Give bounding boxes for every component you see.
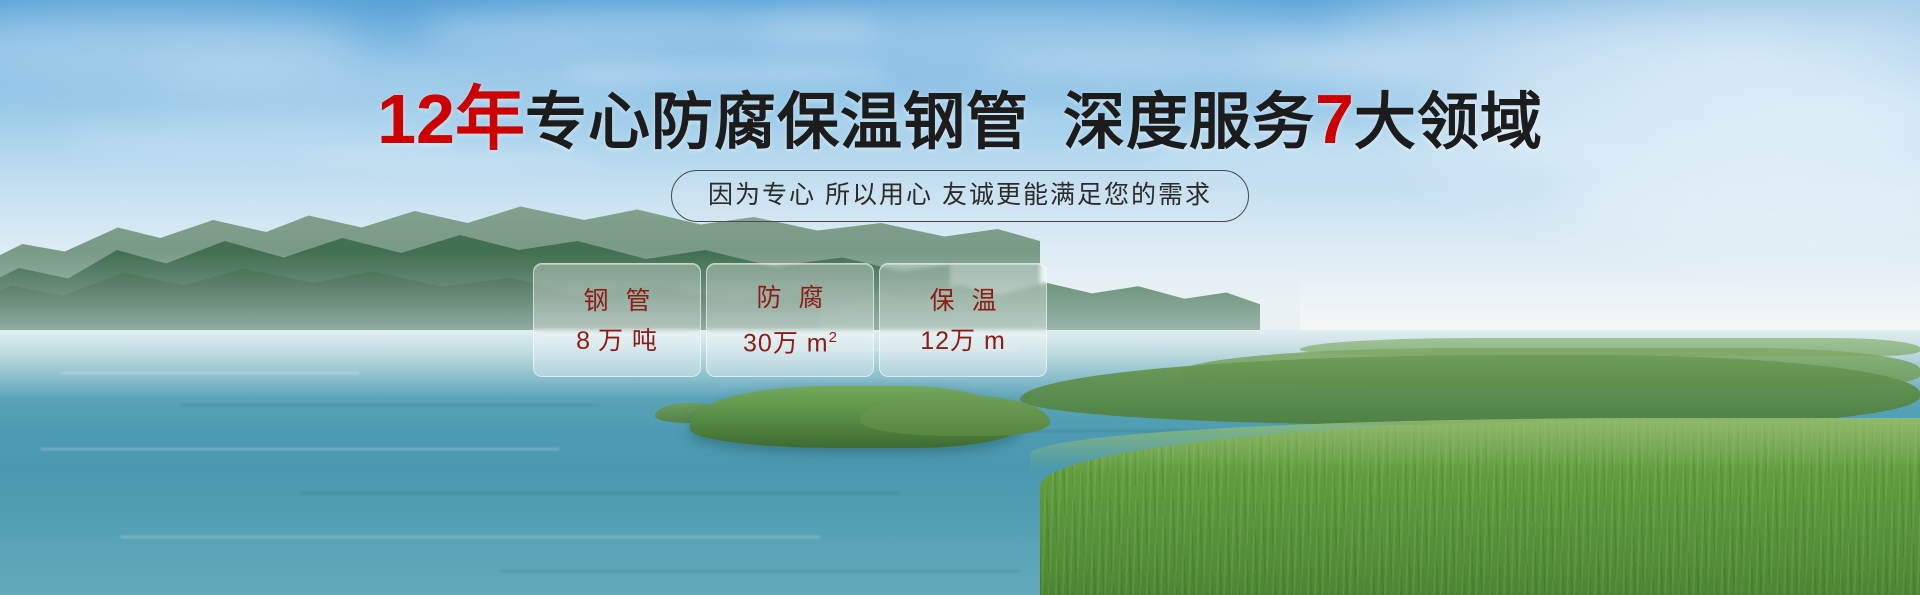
stat-card-value: 12万 m	[920, 327, 1006, 355]
water-ripple	[60, 372, 360, 374]
stat-card-label: 钢 管	[579, 286, 656, 316]
cloud-shape	[560, 60, 890, 86]
stat-card-label: 防 腐	[752, 283, 829, 313]
headline-years-suffix: 年	[455, 80, 525, 158]
stat-card-label: 保 温	[925, 286, 1002, 316]
stat-card[interactable]: 保 温 12万 m	[879, 263, 1047, 377]
water-ripple	[180, 404, 600, 406]
stat-value-number: 12	[920, 327, 950, 355]
stat-card-value: 30万 m2	[743, 324, 837, 357]
stat-value-number: 8	[576, 327, 591, 355]
banner-subtitle: 因为专心 所以用心 友诚更能满足您的需求	[671, 170, 1249, 222]
headline-text-a: 专心防腐保温钢管	[525, 88, 1029, 157]
headline-fields-number: 7	[1315, 80, 1354, 158]
grass-island-secondary	[860, 396, 1050, 436]
headline-text-b: 深度服务	[1063, 88, 1315, 157]
stat-value-exponent: 2	[829, 329, 837, 346]
water-ripple	[120, 536, 820, 538]
stat-value-number: 30	[743, 329, 773, 357]
stat-value-unit: 万 m	[950, 327, 1006, 355]
stat-value-unit: 万 吨	[598, 327, 658, 355]
promo-banner: 12年专心防腐保温钢管深度服务7大领域 因为专心 所以用心 友诚更能满足您的需求…	[0, 0, 1920, 595]
water-ripple	[40, 448, 560, 450]
headline-text-c: 大领域	[1354, 88, 1543, 157]
water-ripple	[300, 492, 900, 494]
headline-years-number: 12	[377, 80, 455, 158]
stat-value-unit: 万 m	[773, 329, 829, 357]
subtitle-container: 因为专心 所以用心 友诚更能满足您的需求	[0, 170, 1920, 222]
stat-card-value: 8万 吨	[576, 327, 658, 355]
water-ripple	[500, 570, 1020, 572]
stat-card[interactable]: 防 腐 30万 m2	[706, 263, 874, 377]
stat-card[interactable]: 钢 管 8万 吨	[533, 263, 701, 377]
stat-card-group: 钢 管 8万 吨 防 腐 30万 m2 保 温 12万 m	[533, 263, 1047, 377]
banner-headline: 12年专心防腐保温钢管深度服务7大领域	[0, 88, 1920, 154]
